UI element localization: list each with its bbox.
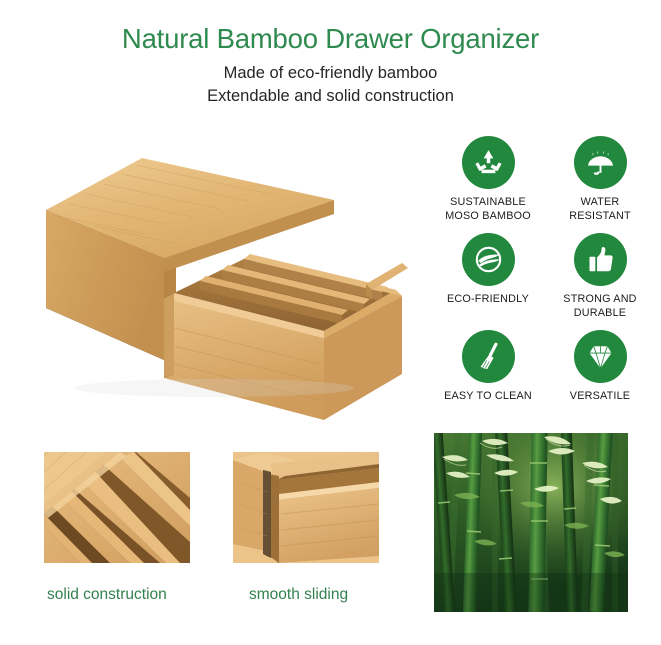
feature-badge-grid: SUSTAINABLE MOSO BAMBOO: [434, 136, 654, 404]
badge-circle: [462, 330, 515, 383]
thumbnail-smooth-sliding: [233, 452, 379, 563]
thumbnail-solid-construction: [44, 452, 190, 563]
badge-water-resistant: WATER RESISTANT: [546, 136, 654, 223]
caption-smooth-sliding: smooth sliding: [249, 586, 348, 604]
badge-sustainable-moso-bamboo: SUSTAINABLE MOSO BAMBOO: [434, 136, 542, 223]
badge-label: STRONG AND DURABLE: [563, 293, 636, 320]
badge-circle: [574, 233, 627, 286]
eco-leaf-icon: [472, 243, 505, 276]
thumbs-up-icon: [584, 243, 617, 276]
badge-circle: [574, 136, 627, 189]
badge-label: EASY TO CLEAN: [444, 390, 532, 404]
product-infographic: Natural Bamboo Drawer Organizer Made of …: [0, 0, 661, 645]
diamond-icon: [584, 340, 617, 373]
subtitle-line-2: Extendable and solid construction: [0, 86, 661, 108]
badge-label: ECO-FRIENDLY: [447, 293, 529, 307]
bamboo-forest-image: [434, 433, 628, 612]
badge-label: SUSTAINABLE MOSO BAMBOO: [445, 196, 531, 223]
badge-label: WATER RESISTANT: [569, 196, 631, 223]
badge-circle: [462, 233, 515, 286]
page-title: Natural Bamboo Drawer Organizer: [0, 22, 661, 56]
badge-label: VERSATILE: [570, 390, 630, 404]
caption-solid-construction: solid construction: [47, 586, 167, 604]
hero-product-image: [24, 138, 434, 420]
broom-icon: [472, 340, 505, 373]
header: Natural Bamboo Drawer Organizer Made of …: [0, 22, 661, 107]
badge-eco-friendly: ECO-FRIENDLY: [434, 233, 542, 320]
badge-circle: [462, 136, 515, 189]
subtitle-line-1: Made of eco-friendly bamboo: [0, 63, 661, 85]
badge-easy-to-clean: EASY TO CLEAN: [434, 330, 542, 404]
recycle-icon: [472, 146, 505, 179]
badge-circle: [574, 330, 627, 383]
badge-strong-and-durable: STRONG AND DURABLE: [546, 233, 654, 320]
badge-versatile: VERSATILE: [546, 330, 654, 404]
umbrella-icon: [584, 146, 617, 179]
